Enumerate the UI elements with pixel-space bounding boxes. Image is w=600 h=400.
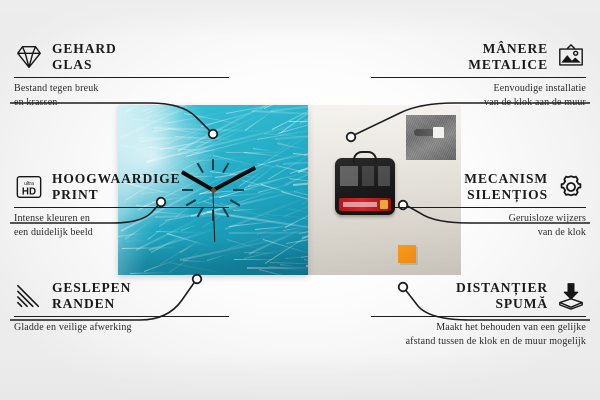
battery-label	[343, 202, 377, 207]
feature-divider	[14, 77, 229, 78]
picture-hanger-icon	[556, 43, 586, 71]
feature-geslepen-randen: GESLEPENRANDEN Gladde en veilige afwerki…	[14, 279, 229, 335]
feature-title: GESLEPENRANDEN	[52, 280, 131, 312]
battery-part	[339, 198, 391, 211]
bevelled-edges-icon	[14, 282, 44, 310]
metal-hanger-part	[406, 115, 456, 160]
feature-description: Eenvoudige installatievan de klok aan de…	[371, 82, 586, 109]
feature-description: Maakt het behouden van een gelijkeafstan…	[371, 321, 586, 348]
gear-icon	[556, 173, 586, 201]
feature-title: MÂNEREMETALICE	[468, 41, 548, 73]
feature-header: MÂNEREMETALICE	[371, 40, 586, 74]
hanger-slot	[414, 129, 440, 136]
feature-divider	[14, 207, 229, 208]
feature-mecanism-silentios: MECANISMSILENȚIOS Geruisloze wijzersvan …	[371, 170, 586, 239]
feature-distantier-spuma: DISTANȚIERSPUMĂ Maakt het behouden van e…	[371, 279, 586, 348]
feature-header: GESLEPENRANDEN	[14, 279, 229, 313]
feature-description: Intense kleuren eneen duidelijk beeld	[14, 212, 229, 239]
feature-header: ultra HD HOOGWAARDIGEPRINT	[14, 170, 229, 204]
feature-title: DISTANȚIERSPUMĂ	[456, 280, 548, 312]
feature-title: MECANISMSILENȚIOS	[464, 171, 548, 203]
feature-header: MECANISMSILENȚIOS	[371, 170, 586, 204]
movement-hook	[353, 151, 377, 163]
clock-movement-part	[335, 158, 395, 215]
feature-hoogwaardige-print: ultra HD HOOGWAARDIGEPRINT Intense kleur…	[14, 170, 229, 239]
diamond-icon	[14, 43, 44, 71]
feature-description: Gladde en veilige afwerking	[14, 321, 229, 335]
infographic-canvas: GEHARDGLAS Bestand tegen breuken krassen…	[0, 0, 600, 400]
ultra-hd-icon: ultra HD	[14, 173, 44, 201]
feature-manere-metalice: MÂNEREMETALICE Eenvoudige installatievan…	[371, 40, 586, 109]
feature-header: DISTANȚIERSPUMĂ	[371, 279, 586, 313]
feature-divider	[371, 316, 586, 317]
feature-description: Bestand tegen breuken krassen	[14, 82, 229, 109]
feature-title: GEHARDGLAS	[52, 41, 117, 73]
feature-title: HOOGWAARDIGEPRINT	[52, 171, 181, 203]
feature-description: Geruisloze wijzersvan de klok	[371, 212, 586, 239]
svg-text:HD: HD	[22, 186, 36, 197]
spacer-press-icon	[556, 282, 586, 310]
feature-divider	[14, 316, 229, 317]
foam-spacer-part	[398, 245, 416, 263]
feature-gehard-glas: GEHARDGLAS Bestand tegen breuken krassen	[14, 40, 229, 109]
feature-divider	[371, 207, 586, 208]
feature-divider	[371, 77, 586, 78]
feature-header: GEHARDGLAS	[14, 40, 229, 74]
movement-marking	[340, 166, 390, 186]
